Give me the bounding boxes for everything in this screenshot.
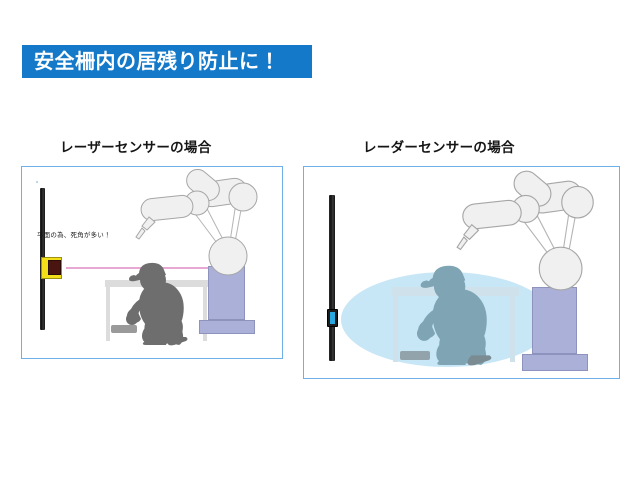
section-heading-radar: レーダーセンサーの場合 bbox=[363, 136, 515, 156]
radar-scene bbox=[304, 167, 619, 378]
laser-sensor-window bbox=[48, 260, 61, 275]
robot-arm bbox=[456, 172, 600, 292]
work-table-leg-left bbox=[106, 287, 110, 341]
slide-title-banner: 安全柵内の居残り防止に！ bbox=[22, 45, 312, 78]
robot-pedestal-column bbox=[532, 287, 577, 354]
laser-blindspot-annotation: 平面の為、死角が多い！ bbox=[37, 229, 111, 239]
robot-pedestal-base bbox=[522, 354, 588, 371]
fence-post bbox=[329, 195, 335, 361]
laser-scene bbox=[22, 167, 282, 358]
work-table-leg-left bbox=[393, 296, 398, 362]
artifact-dot bbox=[36, 181, 38, 183]
panel-radar-sensor bbox=[303, 166, 620, 379]
panel-laser-sensor bbox=[21, 166, 283, 359]
slide-title-text: 安全柵内の居残り防止に！ bbox=[34, 52, 280, 72]
work-table-leg-right bbox=[510, 296, 515, 362]
robot-arm bbox=[135, 171, 263, 276]
section-heading-laser: レーザーセンサーの場合 bbox=[60, 136, 212, 156]
robot-pedestal-base bbox=[199, 320, 255, 334]
radar-sensor-window bbox=[330, 312, 335, 324]
